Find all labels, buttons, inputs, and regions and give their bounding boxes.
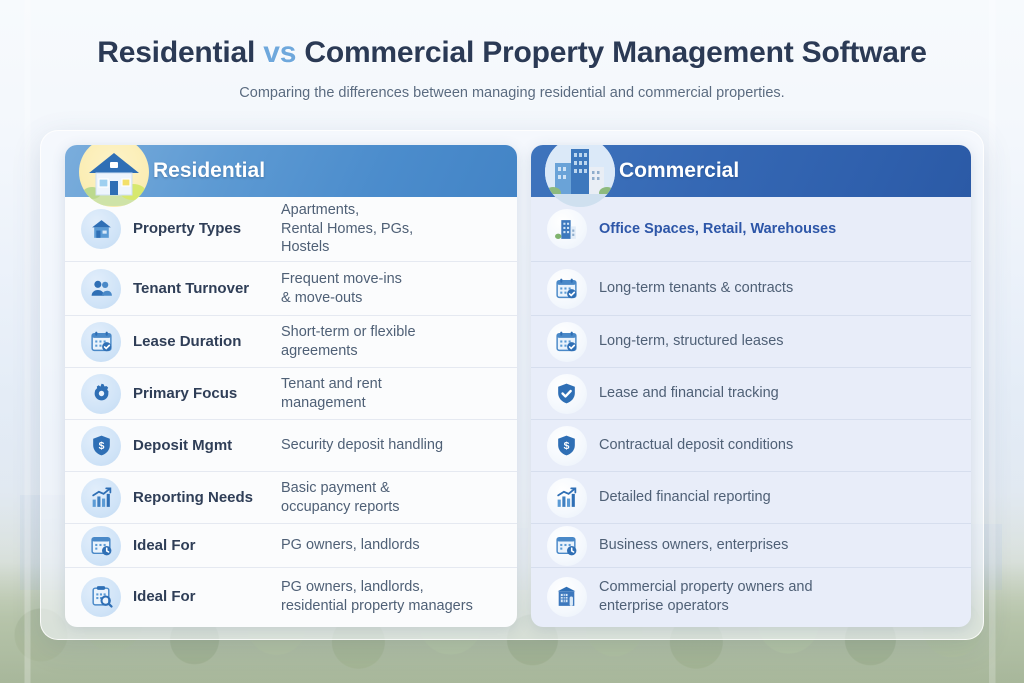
table-row[interactable]: Ideal For PG owners, landlords, resident… [65,567,517,625]
table-row[interactable]: Lease Duration Short-term or flexible ag… [65,315,517,367]
calendar-check-icon [547,269,587,309]
row-label: Primary Focus [133,385,281,403]
row-label: Tenant Turnover [133,280,281,298]
table-row[interactable]: Reporting Needs Basic payment & occupanc… [65,471,517,523]
table-row[interactable]: Commercial property owners and enterpris… [531,567,971,625]
page-title-vs: vs [263,36,296,69]
row-value: Frequent move-ins & move-outs [281,270,503,307]
home-building-icon [81,209,121,249]
row-value: Contractual deposit conditions [599,436,957,455]
row-value: Office Spaces, Retail, Warehouses [599,220,957,239]
page-title-part2: Commercial Property Management Software [296,36,927,69]
row-value: Tenant and rent management [281,375,503,412]
table-row[interactable]: Tenant Turnover Frequent move-ins & move… [65,261,517,315]
row-value: Long-term tenants & contracts [599,279,957,298]
page-header: Residential vs Commercial Property Manag… [0,0,1024,101]
row-value: Lease and financial tracking [599,384,957,403]
page-title: Residential vs Commercial Property Manag… [0,36,1024,69]
row-value: Long-term, structured leases [599,332,957,351]
table-row[interactable]: Office Spaces, Retail, Warehouses [531,197,971,261]
row-label: Ideal For [133,537,281,555]
commercial-panel-header: Commercial [531,145,971,197]
table-row[interactable]: Primary Focus Tenant and rent management [65,367,517,419]
row-value: PG owners, landlords, residential proper… [281,578,503,615]
commercial-heading: Commercial [619,159,739,183]
table-row[interactable]: Detailed financial reporting [531,471,971,523]
table-row[interactable]: Long-term tenants & contracts [531,261,971,315]
calendar-check-icon [81,322,121,362]
page-title-part1: Residential [97,36,263,69]
shield-dollar-icon: $ [81,426,121,466]
row-label: Property Types [133,220,281,238]
table-row[interactable]: Lease and financial tracking [531,367,971,419]
table-row[interactable]: Long-term, structured leases [531,315,971,367]
row-value: Detailed financial reporting [599,488,957,507]
commercial-rows: Office Spaces, Retail, Warehouses Long-t… [531,197,971,627]
shield-check-icon [547,374,587,414]
commercial-panel: Commercial Office Spaces, Retail, Wareho… [531,145,971,627]
svg-text:$: $ [564,441,570,452]
row-value: Short-term or flexible agreements [281,323,503,360]
shield-dollar-icon: $ [547,426,587,466]
page-subtitle: Comparing the differences between managi… [0,85,1024,101]
commercial-building-icon [547,577,587,617]
row-value: Basic payment & occupancy reports [281,479,503,516]
calendar-clock-icon [547,526,587,566]
residential-panel-header: Residential [65,145,517,197]
gear-icon [81,374,121,414]
calendar-check-icon [547,322,587,362]
comparison-board: Residential Property Types Apartments, R… [40,130,984,640]
table-row[interactable]: $ Deposit Mgmt Security deposit handling [65,419,517,471]
residential-heading: Residential [153,159,265,183]
svg-text:$: $ [98,441,104,452]
row-value: PG owners, landlords [281,536,503,555]
people-icon [81,269,121,309]
table-row[interactable]: Property Types Apartments, Rental Homes,… [65,197,517,261]
bar-chart-up-icon [547,478,587,518]
row-value: Commercial property owners and enterpris… [599,578,957,615]
row-label: Ideal For [133,588,281,606]
office-building-icon [547,209,587,249]
bar-chart-up-icon [81,478,121,518]
row-label: Lease Duration [133,333,281,351]
row-label: Reporting Needs [133,489,281,507]
row-label: Deposit Mgmt [133,437,281,455]
table-row[interactable]: Business owners, enterprises [531,523,971,567]
row-value: Security deposit handling [281,436,503,455]
residential-panel: Residential Property Types Apartments, R… [65,145,517,627]
table-row[interactable]: $ Contractual deposit conditions [531,419,971,471]
clipboard-search-icon [81,577,121,617]
table-row[interactable]: Ideal For PG owners, landlords [65,523,517,567]
row-value: Business owners, enterprises [599,536,957,555]
calendar-clock-icon [81,526,121,566]
residential-rows: Property Types Apartments, Rental Homes,… [65,197,517,627]
row-value: Apartments, Rental Homes, PGs, Hostels [281,201,503,257]
